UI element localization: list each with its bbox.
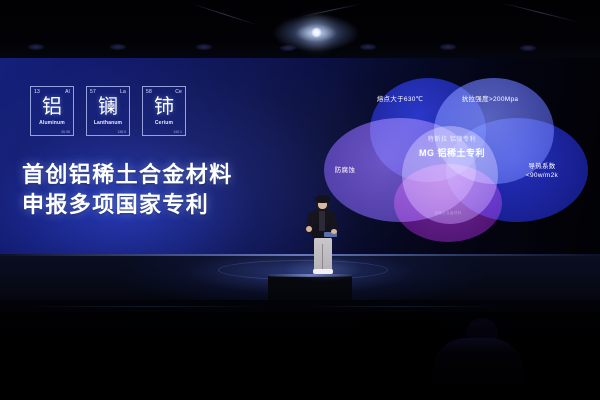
speaker-left-hand <box>306 226 312 232</box>
element-card-lanthanum: 57 La 镧 Lanthanum 138.9 <box>86 86 130 136</box>
venn-label-thermal-line-2: <90w/m2k <box>500 171 584 180</box>
seat-row <box>20 306 270 307</box>
led-wall-screen: 13 Al 铝 Aluminum 26.98 57 La 镧 Lanthanum… <box>0 58 600 254</box>
seat-row <box>300 306 500 307</box>
stage-scene: 13 Al 铝 Aluminum 26.98 57 La 镧 Lanthanum… <box>0 0 600 400</box>
venn-label-tensile-strength: 抗拉强度>200Mpa <box>438 93 542 103</box>
ceiling-light <box>110 44 126 50</box>
venn-diagram: 熔点大于630℃ 抗拉强度>200Mpa 防腐蚀 导热系数 <90w/m2k 特… <box>318 78 586 228</box>
venn-center-title: MG 铝稀土专利 <box>390 146 514 159</box>
element-number: 13 <box>34 89 40 95</box>
element-symbol: Ce <box>175 89 182 95</box>
venn-label-melting-point: 熔点大于630℃ <box>352 93 448 103</box>
element-character: 镧 <box>87 96 129 118</box>
venn-center-label: 特斯拉 铝镁专利 MG 铝稀土专利 <box>390 134 514 159</box>
element-number: 58 <box>146 89 152 95</box>
ceiling-truss-line <box>301 4 360 17</box>
ceiling-truss-line <box>192 3 259 26</box>
element-weight: 138.9 <box>117 130 126 134</box>
element-symbol: Al <box>65 89 70 95</box>
headline-line-2: 申报多项国家专利 <box>22 190 233 220</box>
speaker-figure <box>302 196 344 276</box>
element-name: Aluminum <box>31 120 73 126</box>
speaker-legs <box>314 237 332 270</box>
ceiling-light <box>28 44 44 50</box>
slide-headline: 首创铝稀土合金材料 申报多项国家专利 <box>22 160 233 220</box>
element-weight: 26.98 <box>61 130 70 134</box>
ceiling-light <box>440 44 456 50</box>
spotlight-icon <box>311 27 322 38</box>
element-card-aluminum: 13 Al 铝 Aluminum 26.98 <box>30 86 74 136</box>
speaker-right-hand <box>331 229 337 234</box>
speaker-shoes <box>313 269 333 274</box>
ceiling-light <box>196 44 212 50</box>
venn-label-thermal-line-1: 导热系数 <box>500 162 584 171</box>
ceiling-truss-line <box>501 2 579 22</box>
venn-label-corrosion-resistance: 防腐蚀 <box>320 164 370 174</box>
element-weight: 140.1 <box>173 130 182 134</box>
hall-ceiling <box>0 0 600 60</box>
element-number: 57 <box>90 89 96 95</box>
element-symbol: La <box>120 89 126 95</box>
speaker-leg-divider <box>322 244 323 270</box>
element-name: Cerium <box>143 120 185 126</box>
element-character: 铈 <box>143 96 185 118</box>
stage-floor-edge <box>0 254 600 256</box>
speaker-shirt <box>319 211 325 231</box>
speaker-hair <box>315 195 330 203</box>
periodic-element-cards: 13 Al 铝 Aluminum 26.98 57 La 镧 Lanthanum… <box>30 86 186 136</box>
venn-label-thermal-conductivity: 导热系数 <90w/m2k <box>500 162 584 180</box>
element-name: Lanthanum <box>87 120 129 126</box>
headline-line-1: 首创铝稀土合金材料 <box>22 160 233 190</box>
ceiling-light <box>360 44 376 50</box>
element-card-cerium: 58 Ce 铈 Cerium 140.1 <box>142 86 186 136</box>
ceiling-light <box>280 45 296 51</box>
ceiling-light <box>520 45 536 51</box>
element-character: 铝 <box>31 96 73 118</box>
venn-footnote: 铝稀土合金材料 <box>394 211 502 216</box>
venn-center-subtitle: 特斯拉 铝镁专利 <box>390 134 514 143</box>
foreground-shadow <box>0 312 600 400</box>
